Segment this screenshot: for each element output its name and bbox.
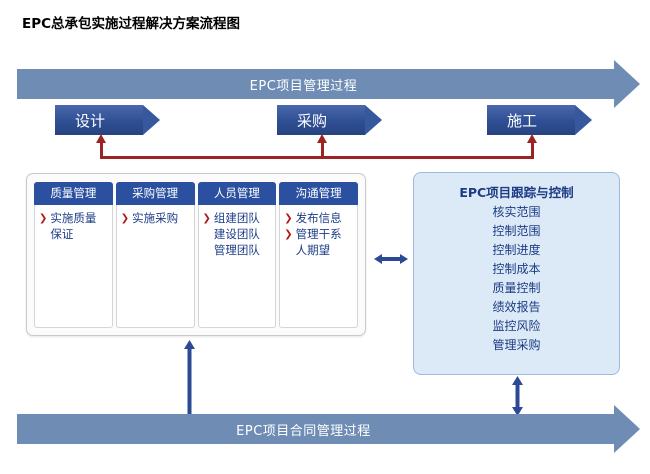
page-title: EPC总承包实施过程解决方案流程图 (22, 12, 240, 32)
monitor-control-item: 监控风险 (414, 317, 619, 336)
monitor-control-item: 核实范围 (414, 203, 619, 222)
banner-epc-contract-management-process: EPC项目合同管理过程 (17, 414, 614, 444)
list-item-label: 实施质量 (50, 211, 96, 226)
list-item-label: 管理团队 (214, 243, 260, 258)
arrow-up-to-process-groups-icon (184, 340, 195, 414)
column-body: ❯ 发布信息 ❯ 管理干系 ❯ 人期望 (279, 205, 358, 328)
chevron-head-icon (143, 105, 160, 135)
arrow-head-icon (614, 405, 640, 453)
process-groups-panel: 质量管理 ❯ 实施质量 ❯ 保证 采购管理 ❯ 实施采购 人员管理 ❯ 组建团队 (26, 173, 366, 336)
column-header: 质量管理 (34, 182, 113, 205)
red-feedback-arrow-construction (531, 142, 534, 159)
monitor-control-title: EPC项目跟踪与控制 (414, 182, 619, 201)
phase-label: 施工 (507, 110, 537, 131)
monitor-control-item: 管理采购 (414, 336, 619, 355)
monitor-control-panel: EPC项目跟踪与控制 核实范围 控制范围 控制进度 控制成本 质量控制 绩效报告… (413, 172, 620, 375)
list-item-label: 人期望 (296, 243, 331, 258)
chevron-head-icon (575, 105, 592, 135)
monitor-control-item: 控制范围 (414, 222, 619, 241)
list-item: ❯ 发布信息 (284, 211, 353, 226)
column-body: ❯ 组建团队 ❯ 建设团队 ❯ 管理团队 (198, 205, 277, 328)
list-item-label: 管理干系 (296, 227, 342, 242)
red-feedback-arrow-procurement (321, 142, 324, 159)
list-item: ❯ 实施采购 (121, 211, 190, 226)
column-body: ❯ 实施质量 ❯ 保证 (34, 205, 113, 328)
arrow-head-icon (614, 60, 640, 108)
double-arrow-vertical-icon (512, 376, 523, 416)
double-arrow-horizontal-icon (374, 254, 408, 264)
banner-bottom-label: EPC项目合同管理过程 (236, 420, 371, 439)
list-item-label: 建设团队 (214, 227, 260, 242)
list-item: ❯ 管理团队 (203, 243, 272, 258)
monitor-control-item: 控制进度 (414, 241, 619, 260)
list-item-label: 发布信息 (296, 211, 342, 226)
process-group-column-personnel[interactable]: 人员管理 ❯ 组建团队 ❯ 建设团队 ❯ 管理团队 (198, 182, 277, 328)
bullet-icon: ❯ (39, 211, 47, 226)
phase-chevron-procurement[interactable]: 采购 (277, 105, 365, 135)
bullet-icon: ❯ (121, 211, 129, 226)
column-body: ❯ 实施采购 (116, 205, 195, 328)
banner-epc-management-process: EPC项目管理过程 (17, 69, 614, 99)
monitor-control-item: 绩效报告 (414, 298, 619, 317)
monitor-control-item: 控制成本 (414, 260, 619, 279)
red-feedback-line (101, 156, 533, 159)
process-group-column-quality[interactable]: 质量管理 ❯ 实施质量 ❯ 保证 (34, 182, 113, 328)
phase-label: 设计 (75, 110, 105, 131)
list-item: ❯ 人期望 (284, 243, 353, 258)
list-item-label: 实施采购 (132, 211, 178, 226)
list-item: ❯ 保证 (39, 227, 108, 242)
process-group-column-procurement[interactable]: 采购管理 ❯ 实施采购 (116, 182, 195, 328)
column-header: 人员管理 (198, 182, 277, 205)
list-item: ❯ 管理干系 (284, 227, 353, 242)
list-item: ❯ 组建团队 (203, 211, 272, 226)
list-item: ❯ 实施质量 (39, 211, 108, 226)
chevron-head-icon (365, 105, 382, 135)
phase-chevron-design[interactable]: 设计 (55, 105, 143, 135)
phase-label: 采购 (297, 110, 327, 131)
list-item: ❯ 建设团队 (203, 227, 272, 242)
red-feedback-arrow-design (100, 142, 103, 159)
monitor-control-item: 质量控制 (414, 279, 619, 298)
bullet-icon: ❯ (284, 227, 292, 242)
column-header: 沟通管理 (279, 182, 358, 205)
column-header: 采购管理 (116, 182, 195, 205)
list-item-label: 保证 (50, 227, 73, 242)
phase-chevron-construction[interactable]: 施工 (487, 105, 575, 135)
bullet-icon: ❯ (203, 211, 211, 226)
process-group-column-communication[interactable]: 沟通管理 ❯ 发布信息 ❯ 管理干系 ❯ 人期望 (279, 182, 358, 328)
banner-top-label: EPC项目管理过程 (250, 75, 358, 94)
bullet-icon: ❯ (284, 211, 292, 226)
list-item-label: 组建团队 (214, 211, 260, 226)
